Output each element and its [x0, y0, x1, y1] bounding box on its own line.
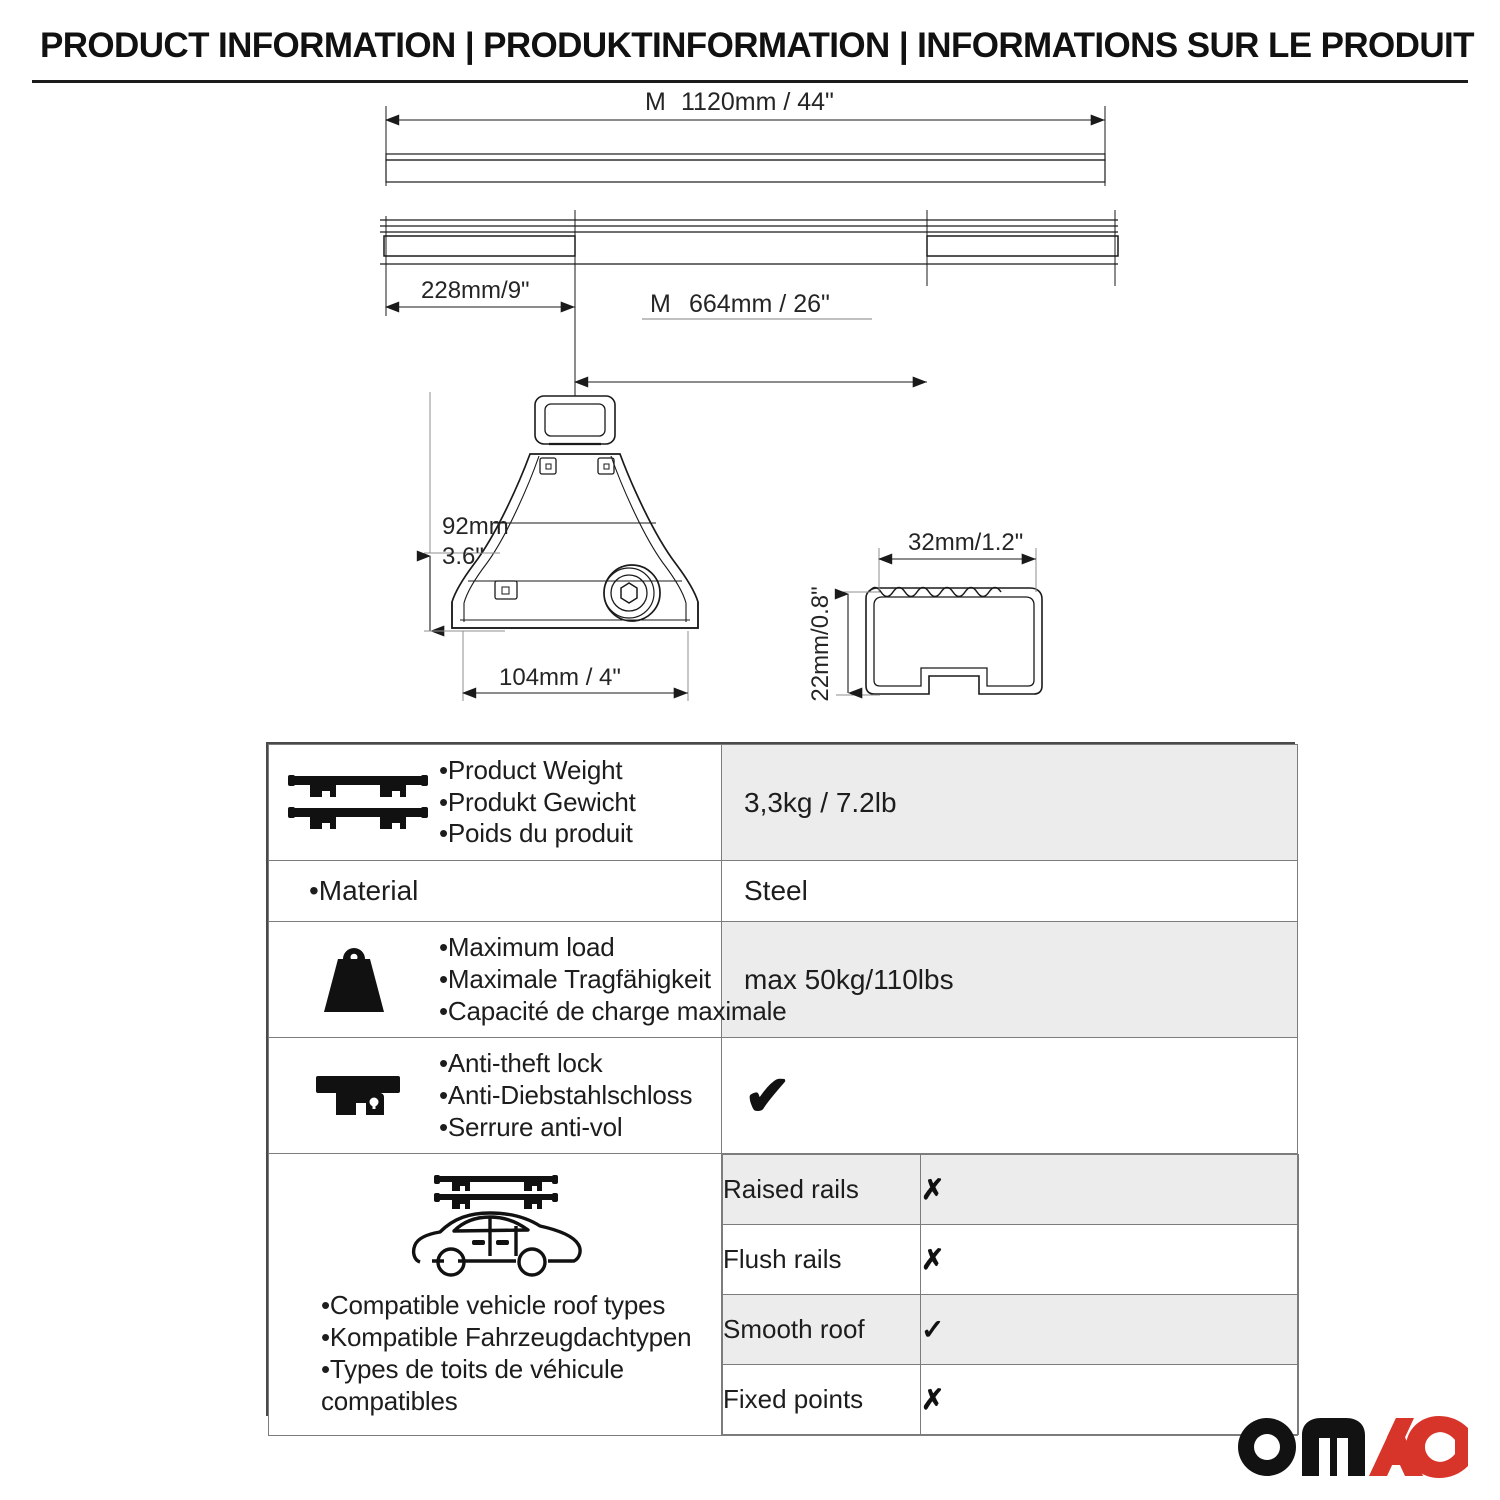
label-line-en: •Maximum load — [439, 932, 786, 964]
row-label-material: •Material — [269, 861, 722, 922]
label-line-fr: •Capacité de charge maximale — [439, 996, 786, 1028]
dim-bar-total-value: 1120mm / 44" — [681, 88, 834, 116]
label-line-en: •Product Weight — [439, 755, 713, 787]
dim-bar-spread-value: 664mm / 26" — [689, 290, 830, 318]
compat-option-name-fixed-points: Fixed points — [723, 1365, 921, 1435]
label-line-en: •Compatible vehicle roof types — [321, 1290, 691, 1322]
label-line-fr: •Types de toits de véhicule — [321, 1354, 691, 1386]
row-label-text-max-load: •Maximum load •Maximale Tragfähigkeit •C… — [439, 932, 786, 1027]
title-divider — [32, 80, 1468, 83]
label-line-fr: •Poids du produit — [439, 818, 713, 850]
cross-icon: ✗ — [921, 1174, 944, 1205]
compat-option-name-flush-rails: Flush rails — [723, 1225, 921, 1295]
compat-option-value-raised-rails: ✗ — [921, 1155, 1299, 1225]
dim-foot-width: 104mm / 4" — [499, 664, 621, 691]
value-max-load: max 50kg/110lbs — [722, 964, 1297, 996]
label-line-de: •Anti-Diebstahlschloss — [439, 1080, 713, 1112]
dim-profile-width: 32mm/1.2" — [908, 529, 1023, 556]
table-row-anti-theft-lock: •Anti-theft lock •Anti-Diebstahlschloss … — [269, 1038, 1298, 1154]
row-value-max-load: max 50kg/110lbs — [722, 922, 1298, 1038]
label-material: •Material — [269, 861, 721, 921]
compat-option-row: Raised rails ✗ — [723, 1155, 1299, 1225]
row-label-text-anti-theft-lock: •Anti-theft lock •Anti-Diebstahlschloss … — [439, 1048, 713, 1143]
compat-option-row: Smooth roof ✓ — [723, 1295, 1299, 1365]
label-line-de: •Produkt Gewicht — [439, 787, 713, 819]
compat-option-value-smooth-roof: ✓ — [921, 1295, 1299, 1365]
row-value-anti-theft-lock: ✔ — [722, 1038, 1298, 1154]
row-label-max-load: •Maximum load •Maximale Tragfähigkeit •C… — [269, 922, 722, 1038]
label-line-de: •Kompatible Fahrzeugdachtypen — [321, 1322, 691, 1354]
compat-option-row: Flush rails ✗ — [723, 1225, 1299, 1295]
row-value-compatibility: Raised rails ✗ Flush rails ✗ — [722, 1154, 1298, 1436]
compatibility-options-table: Raised rails ✗ Flush rails ✗ — [722, 1154, 1299, 1435]
dim-foot-offset: 228mm/9" — [421, 277, 530, 304]
cross-icon: ✗ — [921, 1384, 944, 1415]
compat-option-name-raised-rails: Raised rails — [723, 1155, 921, 1225]
row-value-product-weight: 3,3kg / 7.2lb — [722, 745, 1298, 861]
compat-label-text: •Compatible vehicle roof types •Kompatib… — [283, 1290, 691, 1417]
row-label-anti-theft-lock: •Anti-theft lock •Anti-Diebstahlschloss … — [269, 1038, 722, 1154]
dim-bar-total-prefix: M — [645, 88, 666, 116]
row-label-text-product-weight: •Product Weight •Produkt Gewicht •Poids … — [439, 755, 713, 850]
dim-foot-height-line2: 3.6" — [442, 543, 484, 570]
compat-option-row: Fixed points ✗ — [723, 1365, 1299, 1435]
dim-foot-height-line1: 92mm — [442, 513, 509, 540]
compat-option-name-smooth-roof: Smooth roof — [723, 1295, 921, 1365]
product-spec-table: •Product Weight •Produkt Gewicht •Poids … — [266, 742, 1295, 1416]
crossbars-icon — [283, 772, 433, 834]
table-row-compatibility: •Compatible vehicle roof types •Kompatib… — [269, 1154, 1298, 1436]
label-line-fr-cont: compatibles — [321, 1386, 691, 1418]
dim-profile-height: 22mm/0.8" — [807, 586, 834, 701]
omac-logo — [1236, 1416, 1468, 1478]
compat-option-value-flush-rails: ✗ — [921, 1225, 1299, 1295]
lock-icon — [283, 1066, 433, 1126]
row-label-compatibility: •Compatible vehicle roof types •Kompatib… — [269, 1154, 722, 1436]
table-row-product-weight: •Product Weight •Produkt Gewicht •Poids … — [269, 745, 1298, 861]
check-mark-anti-theft: ✔ — [722, 1068, 1297, 1124]
table-row-max-load: •Maximum load •Maximale Tragfähigkeit •C… — [269, 922, 1298, 1038]
value-material: Steel — [722, 875, 1297, 907]
label-line-fr: •Serrure anti-vol — [439, 1112, 713, 1144]
page-title: PRODUCT INFORMATION | PRODUKTINFORMATION… — [40, 26, 1460, 66]
row-label-product-weight: •Product Weight •Produkt Gewicht •Poids … — [269, 745, 722, 861]
drawing-canvas: M 1120mm / 44" 228mm/9" M 664mm / 26" 92… — [0, 86, 1500, 736]
dim-bar-spread-prefix: M — [650, 290, 671, 318]
value-product-weight: 3,3kg / 7.2lb — [722, 787, 1297, 819]
weight-icon — [283, 942, 433, 1018]
cross-icon: ✗ — [921, 1244, 944, 1275]
label-line-en: •Anti-theft lock — [439, 1048, 713, 1080]
row-value-material: Steel — [722, 861, 1298, 922]
label-line-de: •Maximale Tragfähigkeit — [439, 964, 786, 996]
check-icon: ✓ — [921, 1314, 944, 1345]
technical-drawings: M 1120mm / 44" 228mm/9" M 664mm / 26" 92… — [0, 86, 1500, 736]
car-with-roofrack-icon — [283, 1168, 711, 1284]
table-row-material: •Material Steel — [269, 861, 1298, 922]
